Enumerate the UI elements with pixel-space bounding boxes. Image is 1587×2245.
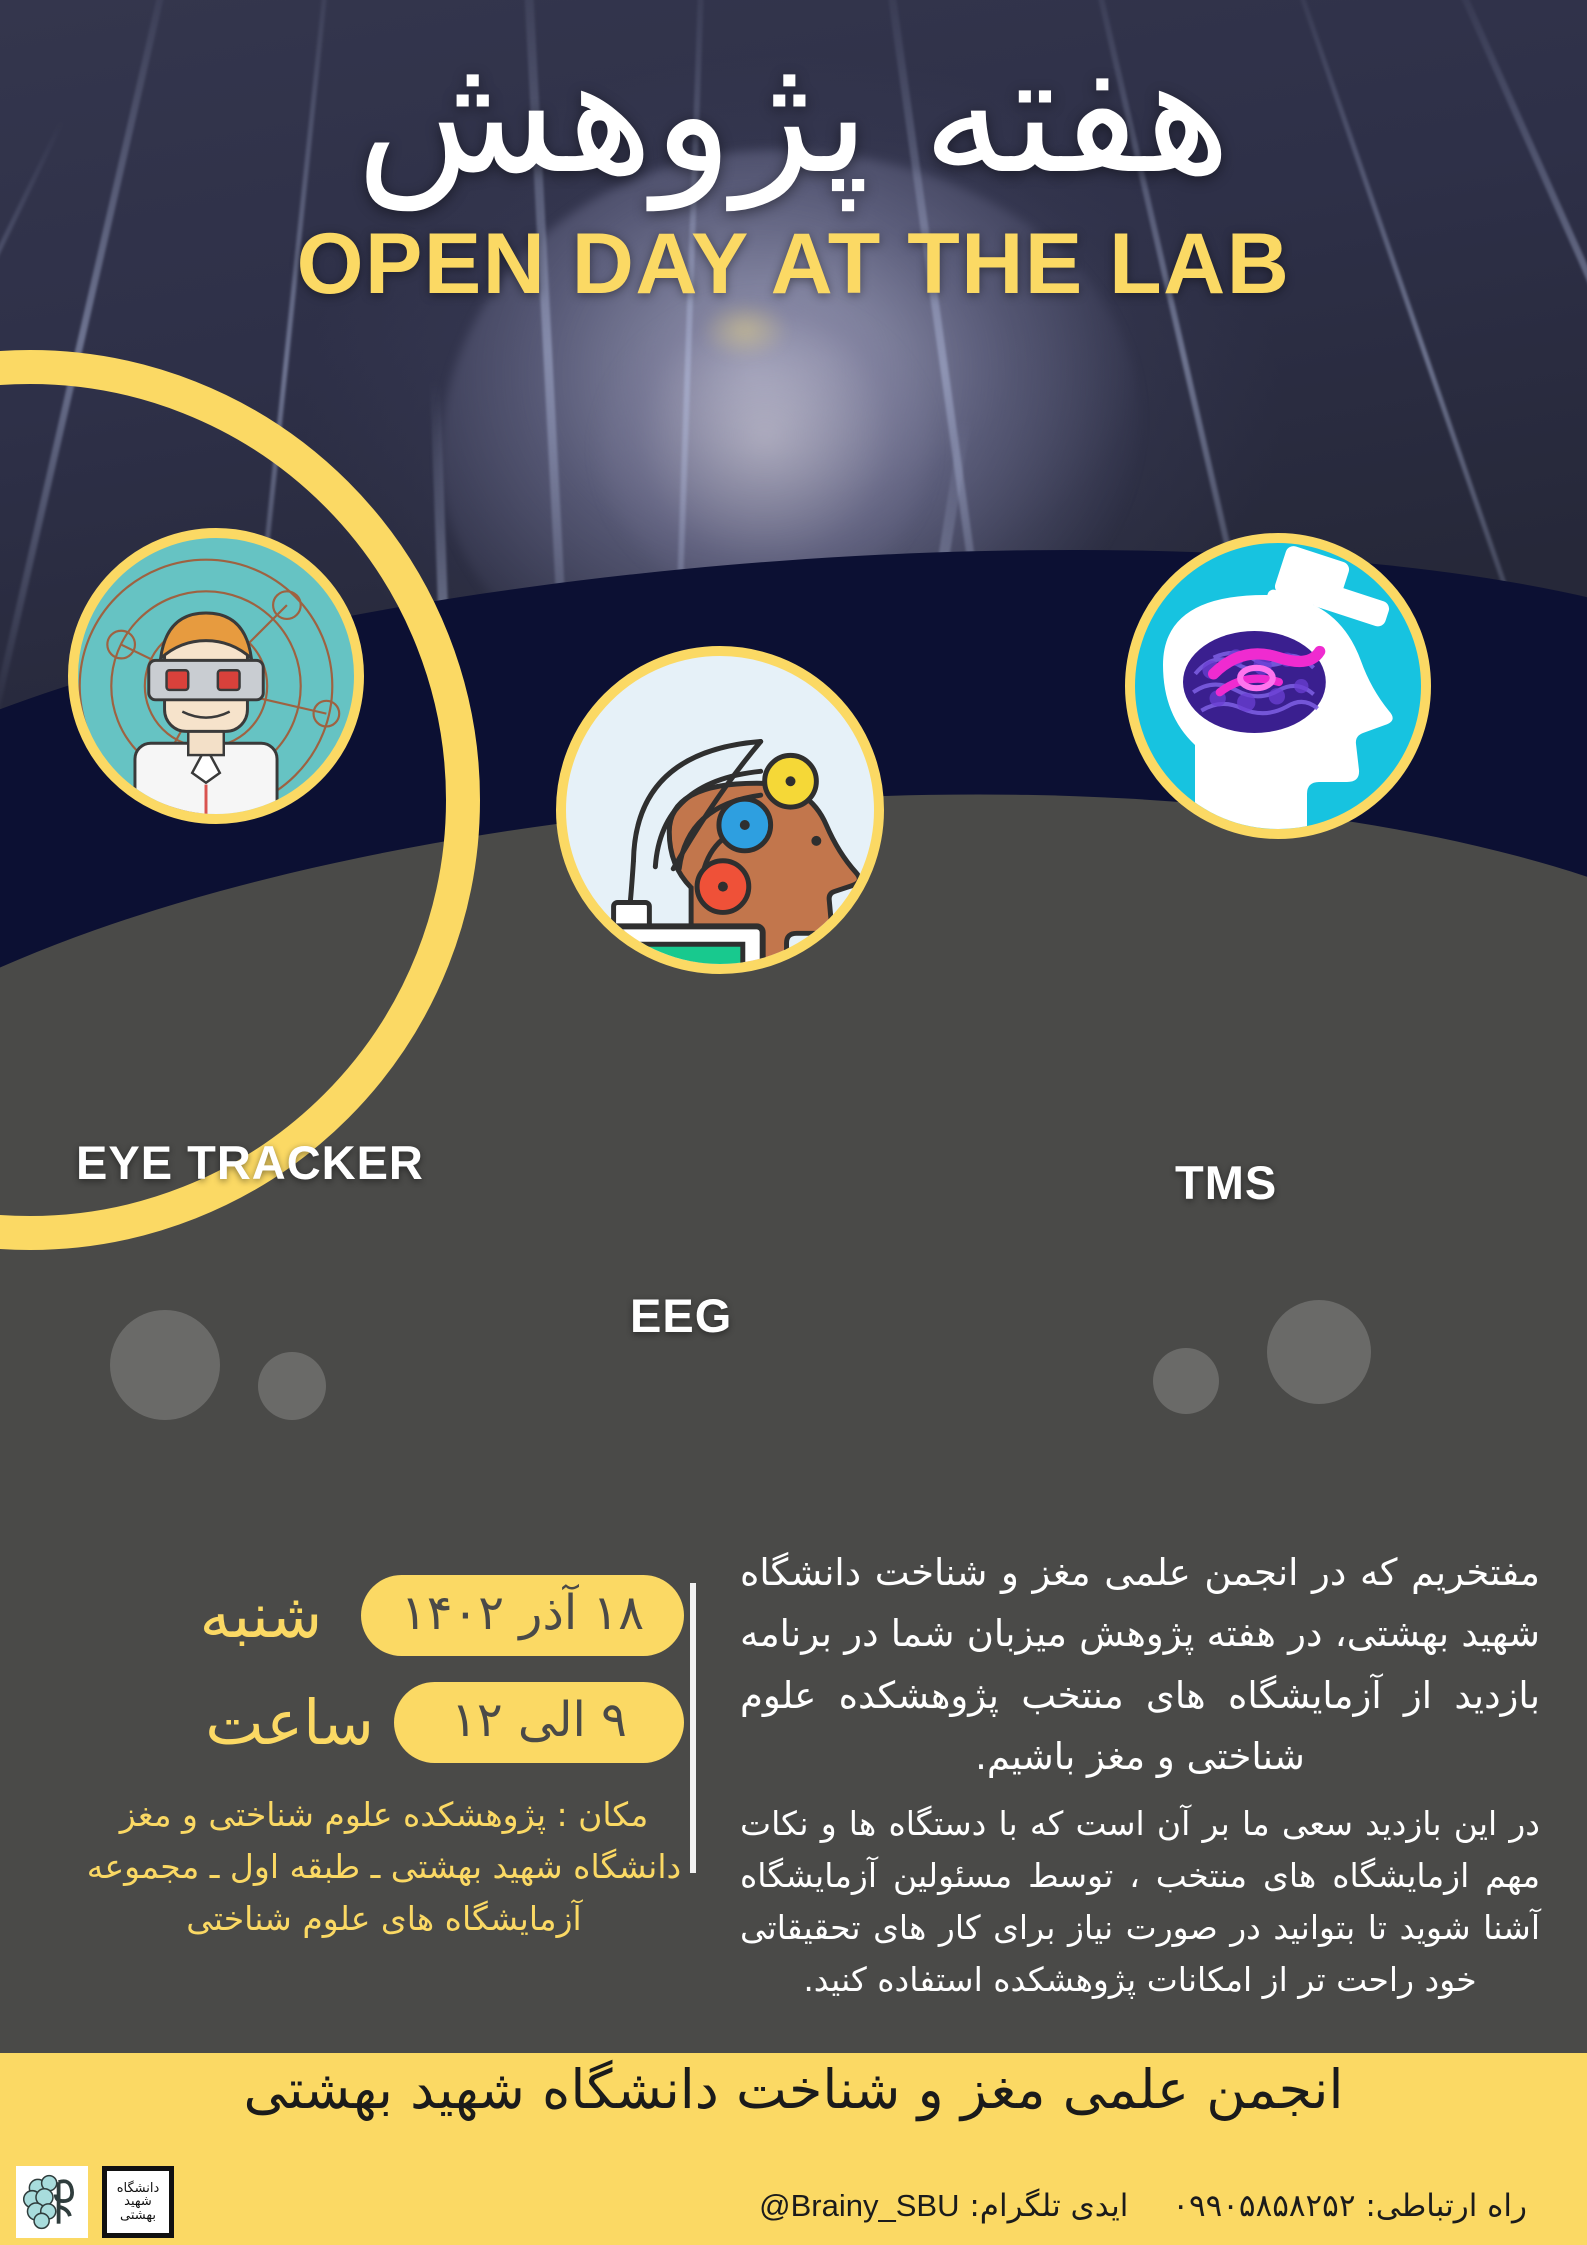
label-tms: TMS xyxy=(1175,1155,1277,1210)
contact-phone-group: راه ارتباطی: ۰۹۹۰۵۸۵۸۲۵۲ xyxy=(1172,2188,1527,2224)
event-day-label: شنبه xyxy=(181,1585,341,1647)
label-eye-tracker: EYE TRACKER xyxy=(76,1135,424,1190)
event-info-block: ۱۸ آذر ۱۴۰۲ شنبه ۹ الی ۱۲ ساعت مکان : پژ… xyxy=(64,1575,684,1945)
telegram-label: ایدی تلگرام: xyxy=(969,2188,1128,2224)
icon-circle-eye-tracker[interactable] xyxy=(68,528,364,824)
brain-icon xyxy=(19,2169,85,2235)
icon-circle-tms[interactable] xyxy=(1125,533,1431,839)
description-paragraph-2: در این بازدید سعی ما بر آن است که با دست… xyxy=(740,1798,1540,2007)
label-eeg: EEG xyxy=(630,1288,732,1343)
eye-tracker-icon xyxy=(68,538,354,824)
page-title-persian: هفته پژوهش xyxy=(0,28,1587,201)
footer-logos: دانشگاه شهید بهشتی xyxy=(16,2166,174,2238)
event-time-value: ۹ الی ۱۲ xyxy=(394,1682,684,1763)
description-block: مفتخریم که در انجمن علمی مغز و شناخت دان… xyxy=(740,1542,1540,2006)
telegram-handle[interactable]: @Brainy_SBU xyxy=(759,2188,959,2224)
event-time-label: ساعت xyxy=(205,1692,374,1754)
event-venue-text: مکان : پژوهشکده علوم شناختی و مغز دانشگا… xyxy=(84,1789,684,1945)
sbu-university-logo: دانشگاه شهید بهشتی xyxy=(102,2166,174,2238)
tms-icon xyxy=(1125,543,1421,839)
description-paragraph-1: مفتخریم که در انجمن علمی مغز و شناخت دان… xyxy=(740,1542,1540,1788)
decorative-dot xyxy=(110,1310,220,1420)
icon-circle-eeg[interactable] xyxy=(556,646,884,974)
telegram-group[interactable]: ایدی تلگرام: @Brainy_SBU xyxy=(759,2188,1128,2224)
brain-association-logo xyxy=(16,2166,88,2238)
contact-phone-value: ۰۹۹۰۵۸۵۸۲۵۲ xyxy=(1172,2188,1355,2224)
footer-contact-row: راه ارتباطی: ۰۹۹۰۵۸۵۸۲۵۲ ایدی تلگرام: @B… xyxy=(759,2188,1527,2224)
contact-label: راه ارتباطی: xyxy=(1365,2188,1527,2224)
eeg-icon xyxy=(556,656,874,974)
footer-organization-name: انجمن علمی مغز و شناخت دانشگاه شهید بهشت… xyxy=(0,2060,1587,2119)
info-vertical-divider xyxy=(690,1583,696,1873)
poster-root: هفته پژوهش OPEN DAY AT THE LAB xyxy=(0,0,1587,2245)
decorative-dot xyxy=(258,1352,326,1420)
decorative-dot xyxy=(1267,1300,1371,1404)
page-title-english: OPEN DAY AT THE LAB xyxy=(0,215,1587,314)
event-date-value: ۱۸ آذر ۱۴۰۲ xyxy=(361,1575,684,1656)
event-date-row: ۱۸ آذر ۱۴۰۲ شنبه xyxy=(64,1575,684,1656)
event-time-row: ۹ الی ۱۲ ساعت xyxy=(64,1682,684,1763)
decorative-dot xyxy=(1153,1348,1219,1414)
